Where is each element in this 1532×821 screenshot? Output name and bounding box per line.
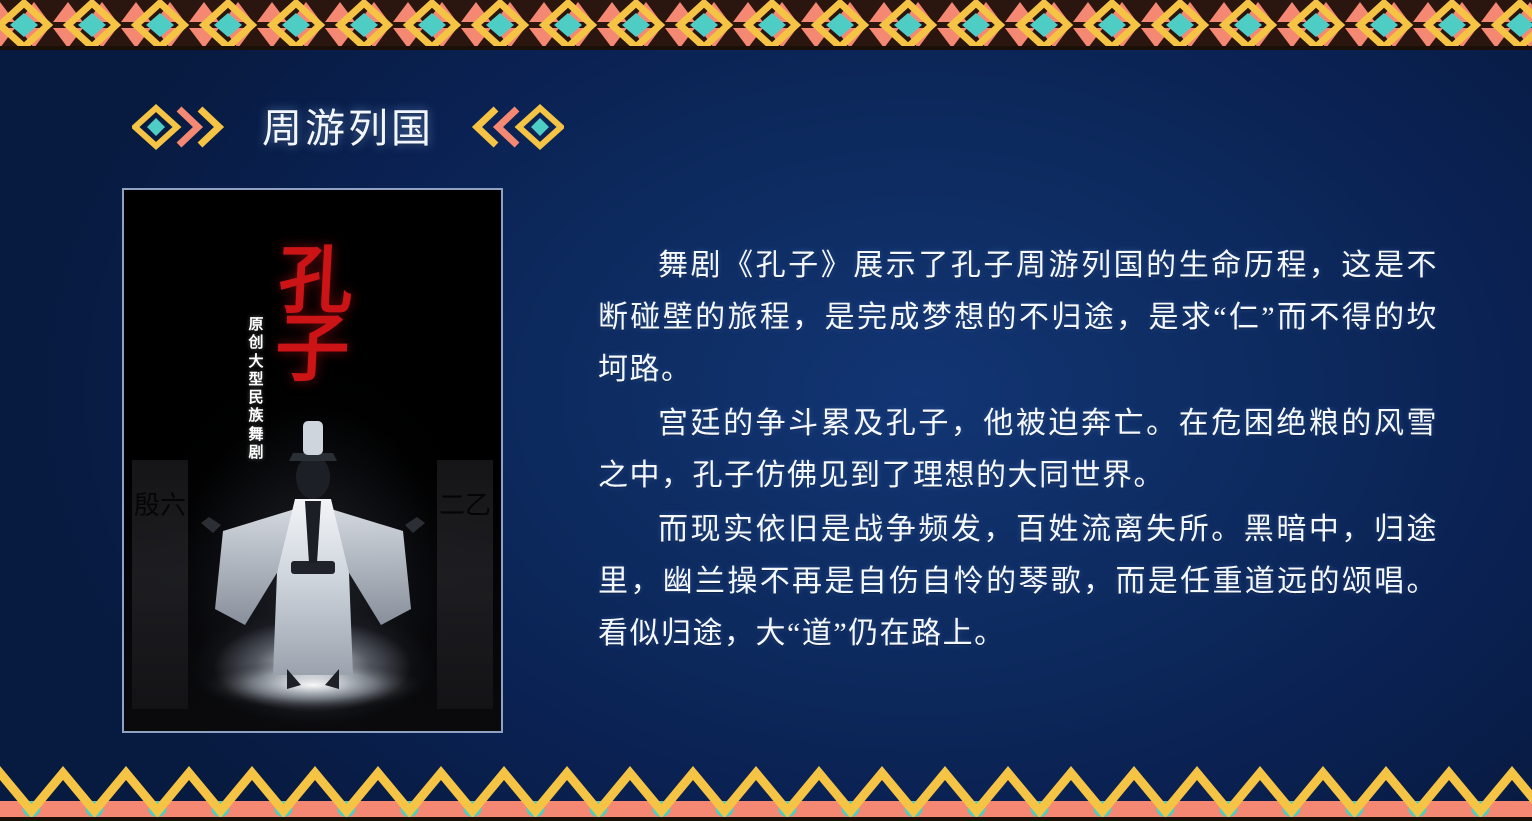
poster-image: 殷六 二乙 孔子 原创大型民族舞剧 (122, 188, 503, 733)
diamond-chevron-right-icon (472, 103, 564, 156)
diamond-chevron-left-icon (132, 103, 224, 156)
paragraph-3: 而现实依旧是战争频发，百姓流离失所。黑暗中，归途里，幽兰操不再是自伤自怜的琴歌，… (598, 504, 1438, 660)
paragraph-1: 舞剧《孔子》展示了孔子周游列国的生命历程，这是不断碰壁的旅程，是完成梦想的不归途… (598, 240, 1438, 396)
top-border-pattern (0, 0, 1532, 50)
slide-root: 周游列国 殷六 二乙 孔子 原创大型民族舞剧 (0, 0, 1532, 821)
title-row: 周游列国 (132, 98, 564, 160)
bottom-border-pattern (0, 759, 1532, 821)
page-title: 周游列国 (262, 109, 434, 149)
paragraph-2: 宫廷的争斗累及孔子，他被迫奔亡。在危困绝粮的风雪之中，孔子仿佛见到了理想的大同世… (598, 398, 1438, 502)
body-text: 舞剧《孔子》展示了孔子周游列国的生命历程，这是不断碰壁的旅程，是完成梦想的不归途… (598, 240, 1438, 662)
dancer-silhouette (124, 413, 501, 713)
poster-logo-main: 孔子 (273, 248, 384, 384)
